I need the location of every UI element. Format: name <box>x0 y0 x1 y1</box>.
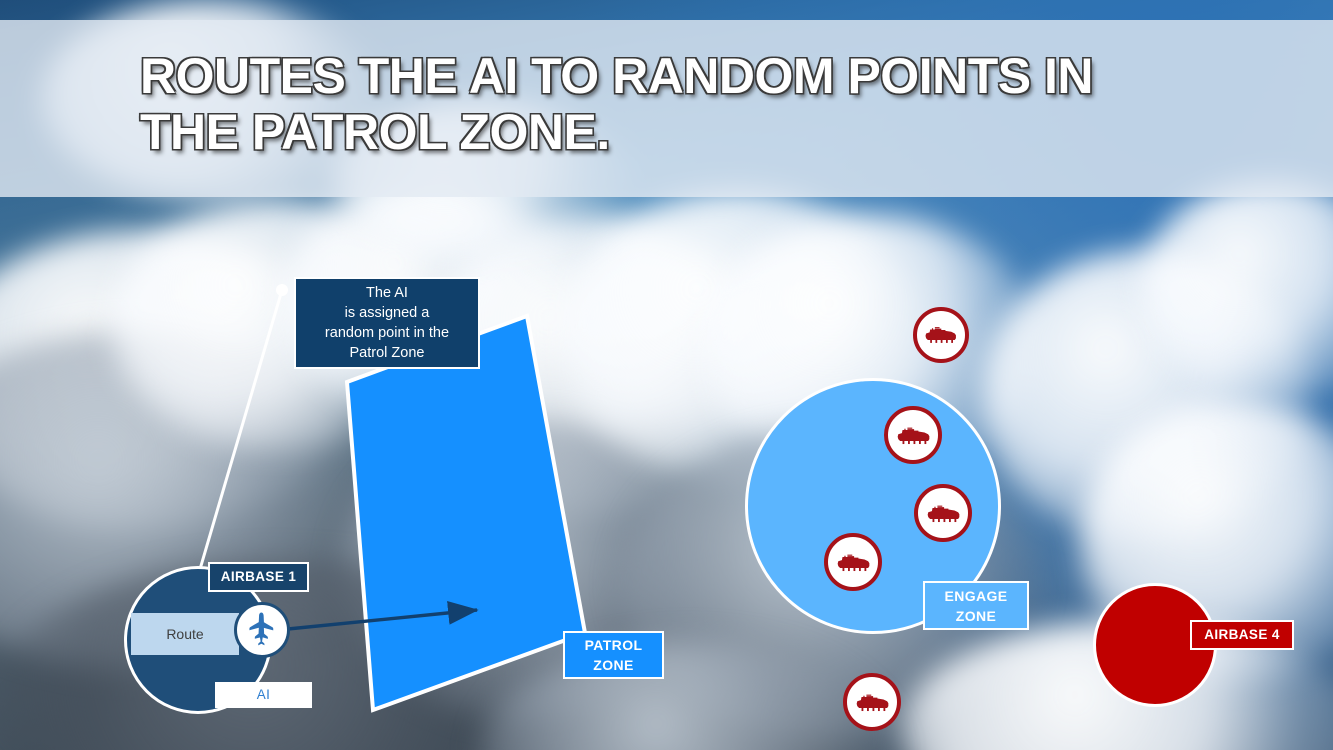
callout-line-1: The AI <box>325 283 449 303</box>
callout-box[interactable]: The AI is assigned a random point in the… <box>294 277 480 369</box>
callout-line-3: random point in the <box>325 323 449 343</box>
armored-vehicle-icon[interactable] <box>824 533 882 591</box>
route-box[interactable]: Route <box>131 613 239 655</box>
engage-zone-label-line-1: ENGAGE <box>944 586 1007 606</box>
callout-line-4: Patrol Zone <box>325 343 449 363</box>
armored-vehicle-icon[interactable] <box>843 673 901 731</box>
patrol-zone-label[interactable]: PATROL ZONE <box>563 631 664 679</box>
airbase-1-label[interactable]: AIRBASE 1 <box>208 562 309 592</box>
patrol-zone-label-line-2: ZONE <box>593 655 634 675</box>
patrol-zone-polygon[interactable] <box>347 316 585 710</box>
ai-label[interactable]: AI <box>215 682 312 708</box>
waypoint-dot-icon <box>276 284 288 296</box>
armored-vehicle-icon[interactable] <box>884 406 942 464</box>
route-leader-line <box>193 290 282 593</box>
fighter-jet-icon[interactable] <box>234 602 290 658</box>
patrol-zone-label-line-1: PATROL <box>585 635 643 655</box>
armored-vehicle-icon[interactable] <box>913 307 969 363</box>
airbase-4-label[interactable]: AIRBASE 4 <box>1190 620 1294 650</box>
engage-zone-label[interactable]: ENGAGE ZONE <box>923 581 1029 630</box>
engage-zone-label-line-2: ZONE <box>956 606 997 626</box>
armored-vehicle-icon[interactable] <box>914 484 972 542</box>
slide-canvas: ROUTES THE AI TO RANDOM POINTS IN THE PA… <box>0 0 1333 750</box>
callout-line-2: is assigned a <box>325 303 449 323</box>
